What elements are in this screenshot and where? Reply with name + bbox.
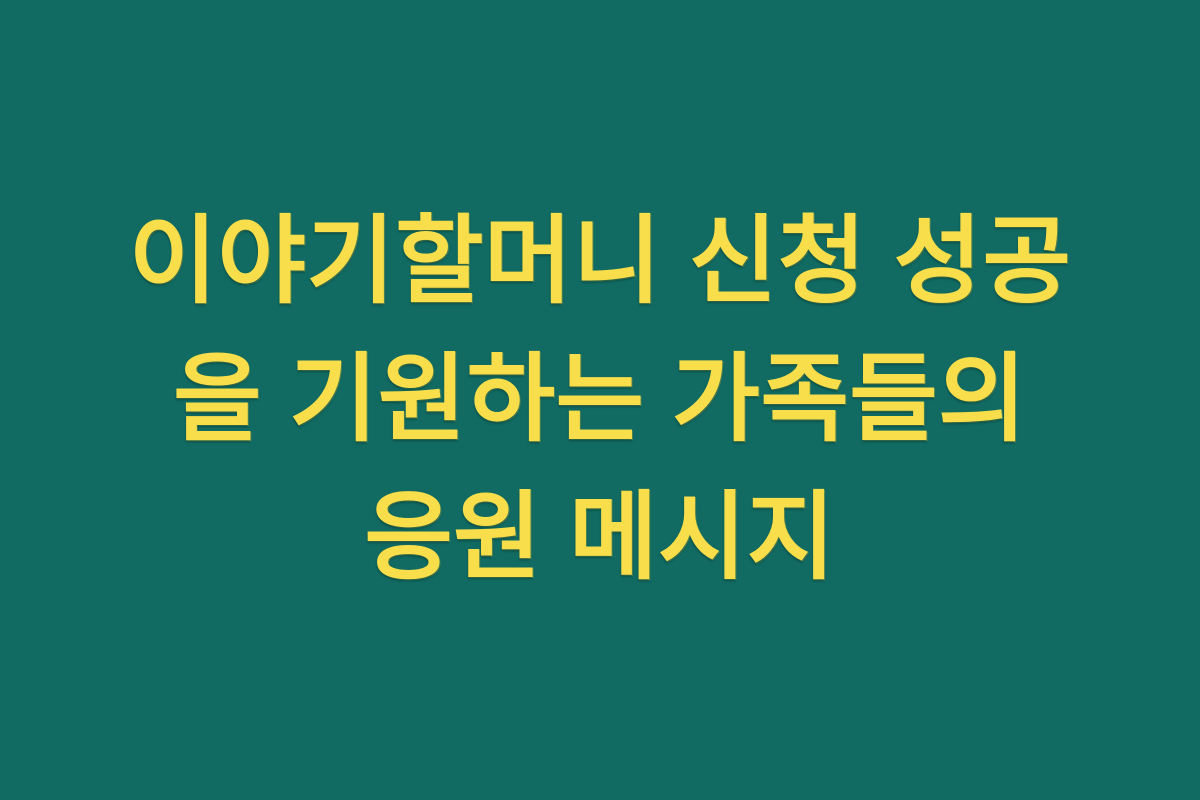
headline-line-2: 을 기원하는 가족들의 [40,331,1160,469]
page-title: 이야기할머니 신청 성공 을 기원하는 가족들의 응원 메시지 [0,193,1200,607]
headline-line-3: 응원 메시지 [40,469,1160,607]
headline-line-1: 이야기할머니 신청 성공 [40,193,1160,331]
poster-canvas: 이야기할머니 신청 성공 을 기원하는 가족들의 응원 메시지 [0,0,1200,800]
